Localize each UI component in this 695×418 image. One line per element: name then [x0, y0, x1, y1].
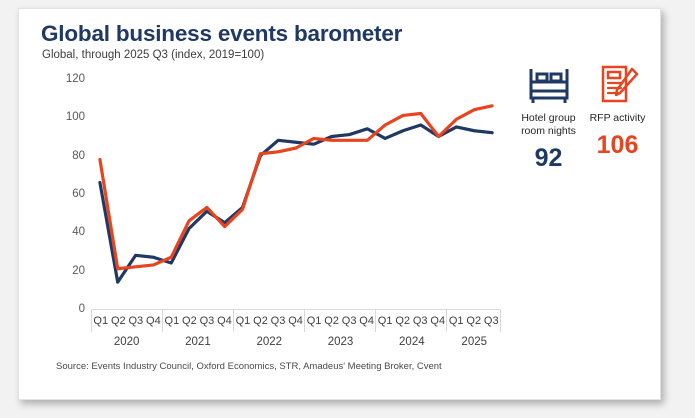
x-axis-quarter-label: Q3	[269, 310, 287, 332]
x-axis-quarter-label: Q2	[252, 310, 270, 332]
x-axis-quarter-label: Q1	[163, 310, 181, 332]
x-axis-quarter-label: Q3	[198, 310, 216, 332]
x-axis-quarter-label: Q1	[447, 310, 465, 332]
x-axis-quarter-label: Q4	[358, 310, 376, 332]
kpi-panel: Hotel group room nights 92	[514, 59, 652, 172]
x-axis-year-group: Q1Q2Q3Q4	[304, 310, 375, 332]
x-axis-year-label: 2020	[91, 332, 162, 352]
x-axis-quarter-label: Q2	[465, 310, 483, 332]
x-axis-year-label: 2024	[376, 332, 447, 352]
x-axis-year-group: Q1Q2Q3Q4	[233, 310, 304, 332]
source-note: Source: Events Industry Council, Oxford …	[56, 361, 442, 372]
y-axis-tick: 60	[72, 188, 85, 200]
x-axis-quarter-label: Q3	[483, 310, 501, 332]
kpi-value: 92	[535, 144, 563, 172]
kpi-label-line2: room nights	[521, 125, 576, 137]
x-axis: Q1Q2Q3Q4Q1Q2Q3Q4Q1Q2Q3Q4Q1Q2Q3Q4Q1Q2Q3Q4…	[91, 309, 501, 353]
chart-card: Global business events barometer Global,…	[18, 8, 661, 400]
x-axis-quarter-label: Q4	[216, 310, 234, 332]
y-axis-tick: 40	[72, 226, 85, 238]
x-axis-quarter-label: Q2	[394, 310, 412, 332]
x-axis-quarter-label: Q1	[305, 310, 323, 332]
x-axis-quarter-label: Q3	[411, 310, 429, 332]
chart-canvas	[91, 79, 501, 309]
x-axis-quarter-label: Q2	[323, 310, 341, 332]
x-axis-year-group: Q1Q2Q3Q4	[375, 310, 446, 332]
chart-plot-area: 020406080100120	[41, 79, 501, 309]
x-axis-year-group: Q1Q2Q3	[446, 310, 501, 332]
y-axis-tick: 100	[66, 111, 85, 123]
x-axis-quarter-label: Q4	[287, 310, 305, 332]
x-axis-year-label: 2021	[162, 332, 233, 352]
chart-subtitle: Global, through 2025 Q3 (index, 2019=100…	[42, 49, 264, 61]
document-pen-icon	[596, 59, 640, 105]
y-axis-labels: 020406080100120	[41, 79, 85, 309]
x-axis-year-row: 202020212022202320242025	[91, 332, 501, 352]
x-axis-quarter-label: Q4	[145, 310, 163, 332]
bed-icon	[527, 59, 571, 105]
x-axis-year-label: 2023	[305, 332, 376, 352]
x-axis-quarter-label: Q2	[181, 310, 199, 332]
x-axis-quarter-label: Q2	[110, 310, 128, 332]
y-axis-tick: 120	[66, 73, 85, 85]
x-axis-year-label: 2025	[447, 332, 500, 352]
kpi-value: 106	[597, 131, 639, 159]
x-axis-quarter-row: Q1Q2Q3Q4Q1Q2Q3Q4Q1Q2Q3Q4Q1Q2Q3Q4Q1Q2Q3Q4…	[91, 310, 501, 332]
x-axis-year-group: Q1Q2Q3Q4	[91, 310, 162, 332]
x-axis-quarter-label: Q4	[429, 310, 447, 332]
series-line	[100, 106, 492, 269]
kpi-rfp-activity: RFP activity 106	[583, 59, 652, 172]
x-axis-quarter-label: Q1	[92, 310, 110, 332]
x-axis-quarter-label: Q3	[127, 310, 145, 332]
y-axis-tick: 20	[72, 265, 85, 277]
x-axis-year-label: 2022	[234, 332, 305, 352]
x-axis-quarter-label: Q1	[234, 310, 252, 332]
kpi-label-line1: RFP activity	[590, 112, 646, 124]
x-axis-quarter-label: Q3	[340, 310, 358, 332]
page-title: Global business events barometer	[41, 21, 402, 47]
kpi-hotel-group-room-nights: Hotel group room nights 92	[514, 59, 583, 172]
kpi-label: Hotel group room nights	[521, 112, 576, 138]
x-axis-quarter-label: Q1	[376, 310, 394, 332]
y-axis-tick: 0	[79, 303, 85, 315]
x-axis-year-group: Q1Q2Q3Q4	[162, 310, 233, 332]
kpi-label-line1: Hotel group	[521, 112, 575, 124]
kpi-label: RFP activity	[590, 112, 646, 125]
y-axis-tick: 80	[72, 150, 85, 162]
